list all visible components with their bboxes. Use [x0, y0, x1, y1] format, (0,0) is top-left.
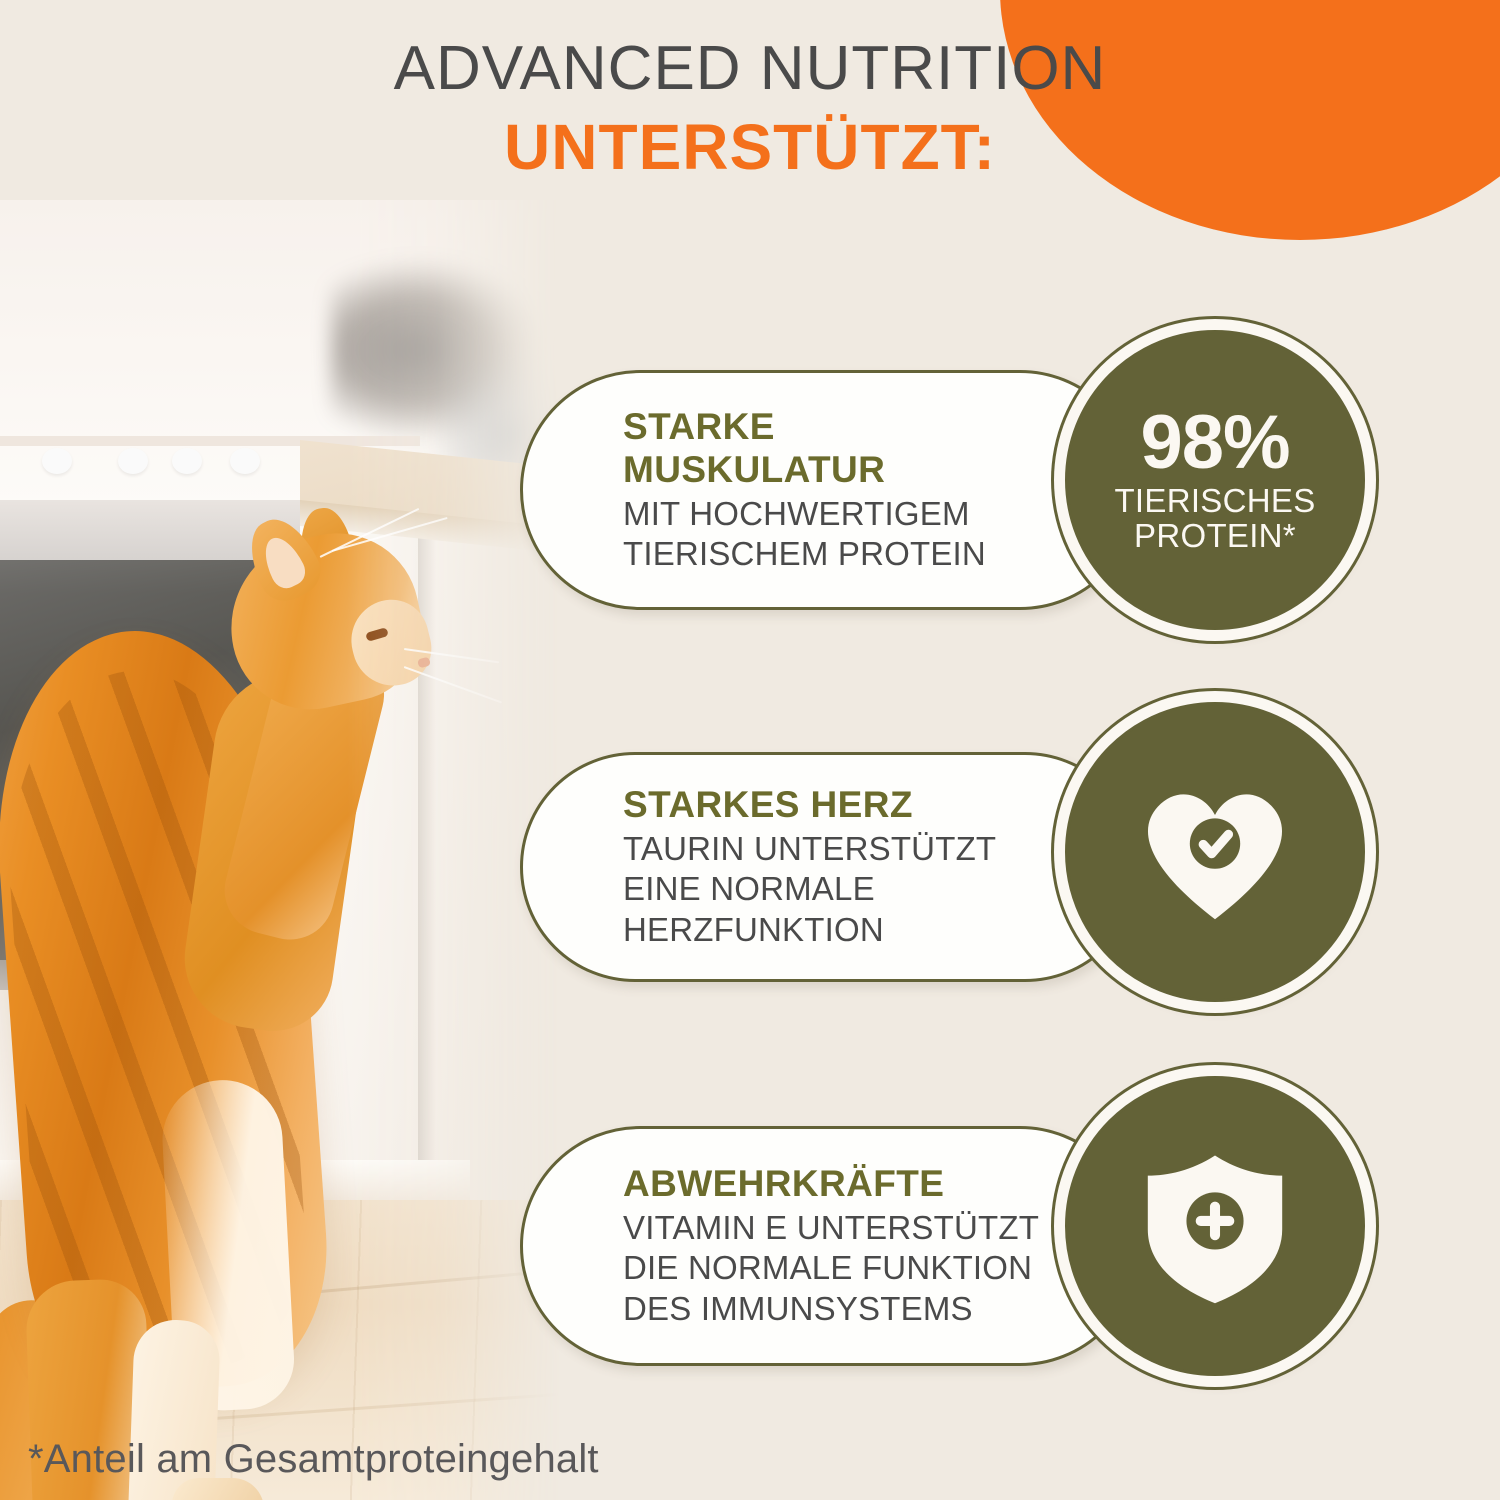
- badge-caption-line-2: PROTEIN*: [1134, 517, 1296, 554]
- stove-knob: [230, 448, 260, 474]
- feature-body: MIT HOCHWERTIGEM TIERISCHEM PROTEIN: [623, 494, 1077, 575]
- feature-title-line-1: STARKE: [623, 406, 775, 447]
- heading-line-primary: ADVANCED NUTRITION: [0, 36, 1500, 103]
- stove-knob: [118, 448, 148, 474]
- feature-body-line-3: HERZFUNKTION: [623, 911, 884, 948]
- counter-edge: [0, 436, 420, 446]
- stove-knob: [172, 448, 202, 474]
- stove-knob: [42, 448, 72, 474]
- heading-line-accent: UNTERSTÜTZT:: [0, 113, 1500, 182]
- protein-percentage-badge: 98% TIERISCHES PROTEIN*: [1065, 330, 1365, 630]
- badge-value: 98%: [1140, 406, 1289, 480]
- heart-check-icon: [1131, 768, 1299, 936]
- feature-card: STARKES HERZ TAURIN UNTERSTÜTZT EINE NOR…: [520, 752, 1140, 982]
- feature-body-line-2: TIERISCHEM PROTEIN: [623, 535, 986, 572]
- feature-title: STARKES HERZ: [623, 784, 1077, 827]
- feature-card: STARKE MUSKULATUR MIT HOCHWERTIGEM TIERI…: [520, 370, 1140, 610]
- feature-body: TAURIN UNTERSTÜTZT EINE NORMALE HERZFUNK…: [623, 829, 1077, 950]
- feature-body-line-1: MIT HOCHWERTIGEM: [623, 495, 970, 532]
- feature-title: STARKE MUSKULATUR: [623, 406, 1077, 492]
- feature-title: ABWEHRKRÄFTE: [623, 1163, 1077, 1206]
- feature-body-line-2: EINE NORMALE: [623, 870, 875, 907]
- shield-plus-icon: [1131, 1142, 1299, 1310]
- feature-body-line-3: DES IMMUNSYSTEMS: [623, 1290, 973, 1327]
- feature-body-line-1: TAURIN UNTERSTÜTZT: [623, 830, 996, 867]
- immune-defense-badge: [1065, 1076, 1365, 1376]
- cabinet-shadow: [418, 500, 436, 1200]
- cat-photo: [0, 200, 560, 1500]
- footnote-text: *Anteil am Gesamtproteingehalt: [28, 1437, 599, 1482]
- feature-card: ABWEHRKRÄFTE VITAMIN E UNTERSTÜTZT DIE N…: [520, 1126, 1140, 1366]
- feature-body-line-1: VITAMIN E UNTERSTÜTZT: [623, 1209, 1039, 1246]
- badge-caption: TIERISCHES PROTEIN*: [1114, 484, 1315, 554]
- feature-title-line-2: MUSKULATUR: [623, 449, 885, 490]
- page-heading: ADVANCED NUTRITION UNTERSTÜTZT:: [0, 36, 1500, 182]
- badge-caption-line-1: TIERISCHES: [1114, 482, 1315, 519]
- feature-body-line-2: DIE NORMALE FUNKTION: [623, 1249, 1032, 1286]
- heart-health-badge: [1065, 702, 1365, 1002]
- feature-body: VITAMIN E UNTERSTÜTZT DIE NORMALE FUNKTI…: [623, 1208, 1077, 1329]
